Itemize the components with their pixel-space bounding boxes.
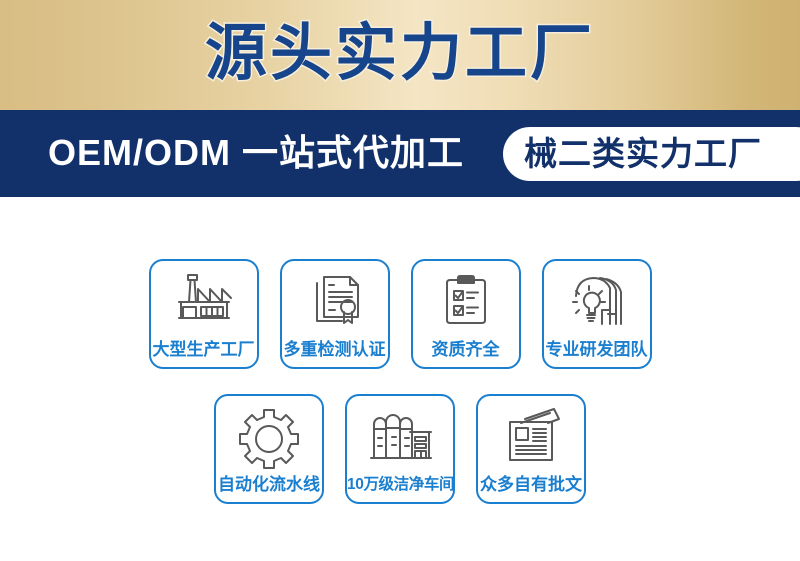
feature-card-label: 多重检测认证	[282, 340, 388, 360]
features-section: 大型生产工厂 多重检测认证	[0, 197, 800, 561]
feature-card-cleanroom[interactable]: 10万级洁净车间	[345, 394, 455, 504]
feature-card-approvals[interactable]: 众多自有批文	[476, 394, 586, 504]
newspaper-document-icon	[498, 407, 564, 469]
feature-card-label: 10万级洁净车间	[347, 475, 453, 495]
gold-header-band: 源头实力工厂	[0, 0, 800, 110]
feature-card-certification[interactable]: 多重检测认证	[280, 259, 390, 369]
feature-card-label: 自动化流水线	[216, 475, 322, 495]
feature-card-label: 大型生产工厂	[151, 340, 257, 360]
feature-row-2: 自动化流水线 10万级洁净车间	[0, 394, 800, 504]
gear-icon	[236, 407, 302, 469]
lightbulb-heads-icon	[564, 272, 630, 334]
status-badge-label: 械二类实力工厂	[524, 131, 762, 177]
clipboard-checklist-icon	[433, 272, 499, 334]
feature-card-label: 资质齐全	[413, 340, 519, 360]
banner-slogan: OEM/ODM 一站式代加工	[48, 131, 464, 175]
silo-plant-icon	[367, 407, 433, 469]
feature-row-1: 大型生产工厂 多重检测认证	[0, 259, 800, 369]
page-title: 源头实力工厂	[0, 14, 800, 94]
feature-card-factory[interactable]: 大型生产工厂	[149, 259, 259, 369]
feature-card-label: 专业研发团队	[544, 340, 650, 360]
factory-icon	[171, 272, 237, 334]
feature-card-label: 众多自有批文	[478, 475, 584, 495]
feature-card-qualifications[interactable]: 资质齐全	[411, 259, 521, 369]
certificate-icon	[302, 272, 368, 334]
feature-card-rnd-team[interactable]: 专业研发团队	[542, 259, 652, 369]
feature-card-automation[interactable]: 自动化流水线	[214, 394, 324, 504]
status-badge: 械二类实力工厂	[503, 127, 800, 181]
